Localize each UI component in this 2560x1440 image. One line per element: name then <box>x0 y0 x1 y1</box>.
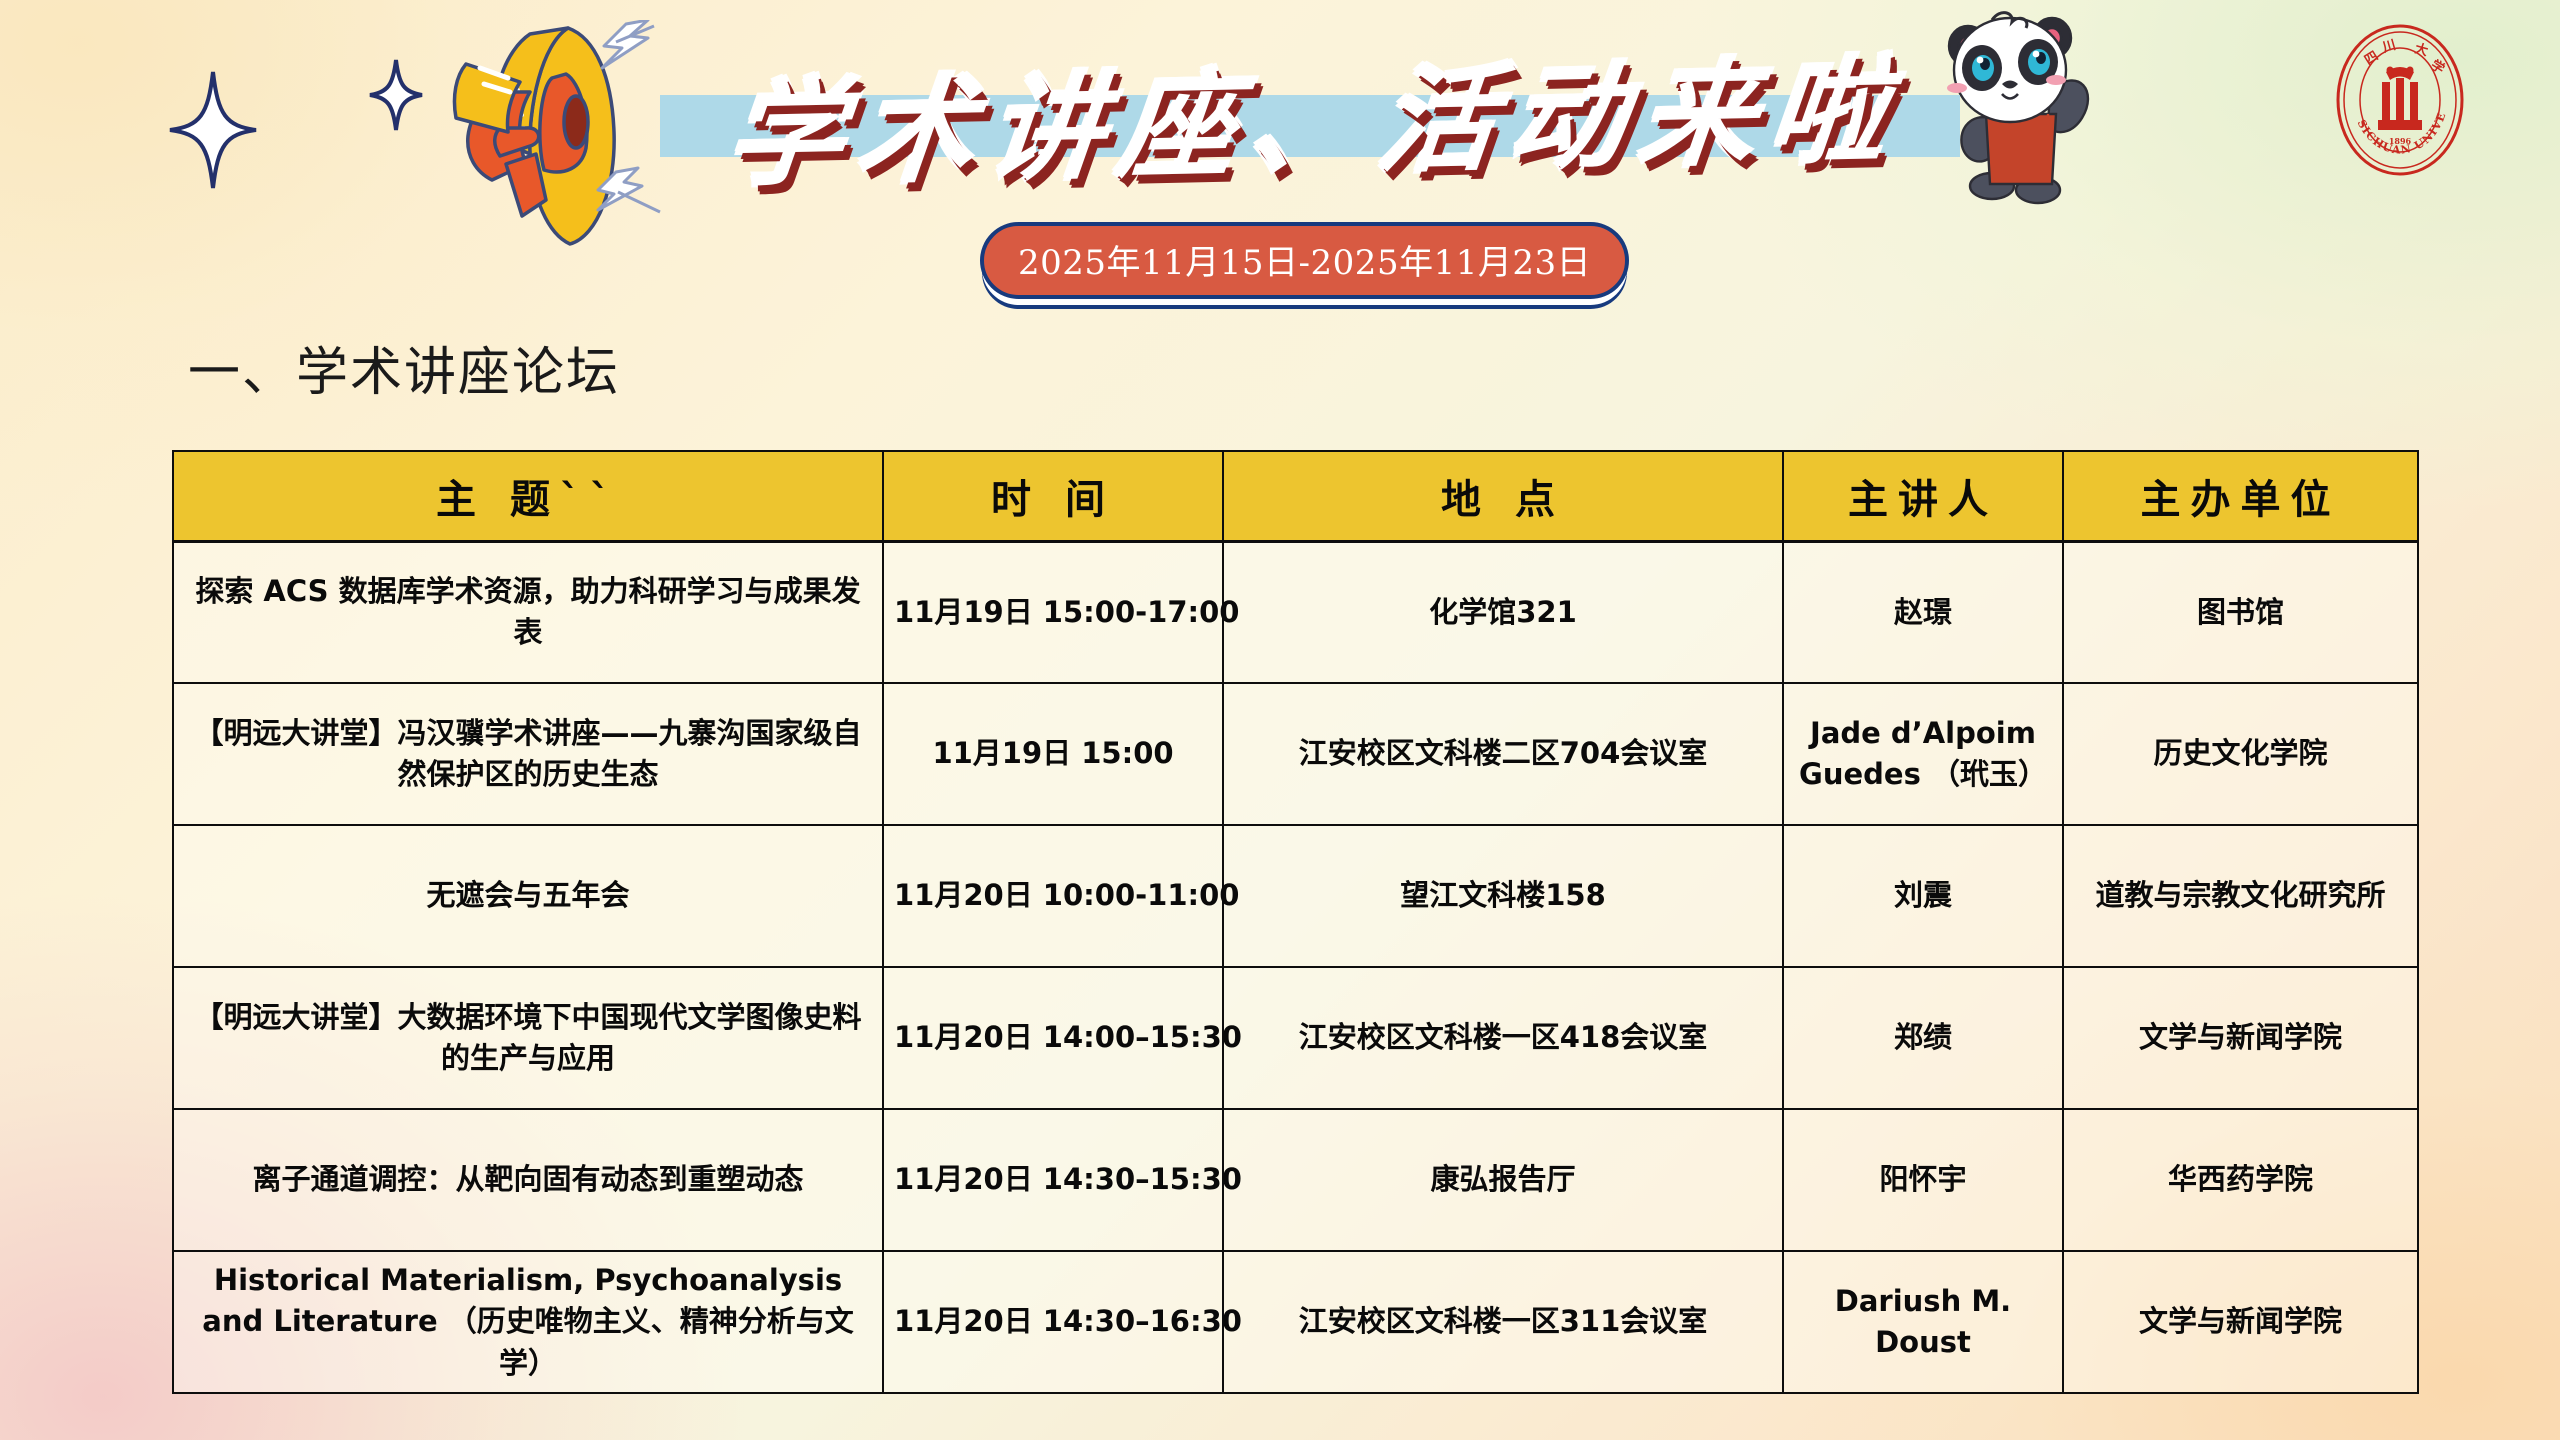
cell-speaker: 赵璟 <box>1783 541 2063 683</box>
cell-speaker: 刘震 <box>1783 825 2063 967</box>
table-row: 无遮会与五年会 11月20日 10:00-11:00 望江文科楼158 刘震 道… <box>173 825 2418 967</box>
cell-host: 文学与新闻学院 <box>2063 1251 2418 1393</box>
cell-host: 华西药学院 <box>2063 1109 2418 1251</box>
cell-place: 望江文科楼158 <box>1223 825 1783 967</box>
table-row: 【明远大讲堂】冯汉骥学术讲座——九寨沟国家级自然保护区的历史生态 11月19日 … <box>173 683 2418 825</box>
cell-topic: 探索 ACS 数据库学术资源，助力科研学习与成果发表 <box>173 541 883 683</box>
section-heading: 一、学术讲座论坛 <box>188 330 620 405</box>
cell-time: 11月20日 14:30–15:30 <box>883 1109 1223 1251</box>
cell-speaker: 郑绩 <box>1783 967 2063 1109</box>
svg-text:川: 川 <box>2380 38 2398 56</box>
cell-place: 江安校区文科楼二区704会议室 <box>1223 683 1783 825</box>
table-row: 【明远大讲堂】大数据环境下中国现代文学图像史料的生产与应用 11月20日 14:… <box>173 967 2418 1109</box>
cell-host: 历史文化学院 <box>2063 683 2418 825</box>
column-header-place: 地 点 <box>1223 451 1783 541</box>
megaphone-icon <box>330 20 670 250</box>
cell-topic: 【明远大讲堂】大数据环境下中国现代文学图像史料的生产与应用 <box>173 967 883 1109</box>
cell-topic: 无遮会与五年会 <box>173 825 883 967</box>
sparkle-star-small-icon <box>368 58 424 132</box>
cell-time: 11月20日 10:00-11:00 <box>883 825 1223 967</box>
cell-place: 康弘报告厅 <box>1223 1109 1783 1251</box>
svg-text:四: 四 <box>2362 49 2381 69</box>
column-header-time: 时 间 <box>883 451 1223 541</box>
cell-time: 11月19日 15:00-17:00 <box>883 541 1223 683</box>
table-body: 探索 ACS 数据库学术资源，助力科研学习与成果发表 11月19日 15:00-… <box>173 541 2418 1393</box>
cell-host: 图书馆 <box>2063 541 2418 683</box>
cell-place: 江安校区文科楼一区418会议室 <box>1223 967 1783 1109</box>
table-row: 离子通道调控：从靶向固有动态到重塑动态 11月20日 14:30–15:30 康… <box>173 1109 2418 1251</box>
svg-text:学: 学 <box>2428 57 2448 77</box>
cell-speaker: Dariush M. Doust <box>1783 1251 2063 1393</box>
svg-text:1896: 1896 <box>2389 136 2412 146</box>
page-title: 学术讲座、活动来啦 <box>649 6 1981 218</box>
cell-host: 道教与宗教文化研究所 <box>2063 825 2418 967</box>
date-range-badge-wrapper: 2025年11月15日-2025年11月23日 <box>980 222 1629 299</box>
table-header-row: 主 题`` 时 间 地 点 主讲人 主办单位 <box>173 451 2418 541</box>
column-header-speaker: 主讲人 <box>1783 451 2063 541</box>
cell-time: 11月20日 14:30–16:30 <box>883 1251 1223 1393</box>
column-header-topic: 主 题`` <box>173 451 883 541</box>
table-row: Historical Materialism, Psychoanalysis a… <box>173 1251 2418 1393</box>
schedule-table: 主 题`` 时 间 地 点 主讲人 主办单位 探索 ACS 数据库学术资源，助力… <box>172 450 2419 1394</box>
cell-topic: 离子通道调控：从靶向固有动态到重塑动态 <box>173 1109 883 1251</box>
cell-host: 文学与新闻学院 <box>2063 967 2418 1109</box>
date-range-badge: 2025年11月15日-2025年11月23日 <box>980 222 1629 299</box>
cell-topic: 【明远大讲堂】冯汉骥学术讲座——九寨沟国家级自然保护区的历史生态 <box>173 683 883 825</box>
sichuan-university-logo: 1896 SICHUAN UNIVERSITY 四 川 大 学 <box>2320 20 2480 180</box>
cell-topic: Historical Materialism, Psychoanalysis a… <box>173 1251 883 1393</box>
table-row: 探索 ACS 数据库学术资源，助力科研学习与成果发表 11月19日 15:00-… <box>173 541 2418 683</box>
svg-text:大: 大 <box>2413 40 2430 59</box>
cell-speaker: Jade d’Alpoim Guedes （玳玉） <box>1783 683 2063 825</box>
table-head: 主 题`` 时 间 地 点 主讲人 主办单位 <box>173 451 2418 541</box>
column-header-host: 主办单位 <box>2063 451 2418 541</box>
svg-text:SICHUAN UNIVERSITY: SICHUAN UNIVERSITY <box>2320 20 2449 157</box>
cell-place: 化学馆321 <box>1223 541 1783 683</box>
cell-time: 11月19日 15:00 <box>883 683 1223 825</box>
cell-place: 江安校区文科楼一区311会议室 <box>1223 1251 1783 1393</box>
cell-time: 11月20日 14:00–15:30 <box>883 967 1223 1109</box>
cell-speaker: 阳怀宇 <box>1783 1109 2063 1251</box>
sparkle-star-large-icon <box>168 70 258 190</box>
schedule-table-wrapper: 主 题`` 时 间 地 点 主讲人 主办单位 探索 ACS 数据库学术资源，助力… <box>172 450 2417 1394</box>
